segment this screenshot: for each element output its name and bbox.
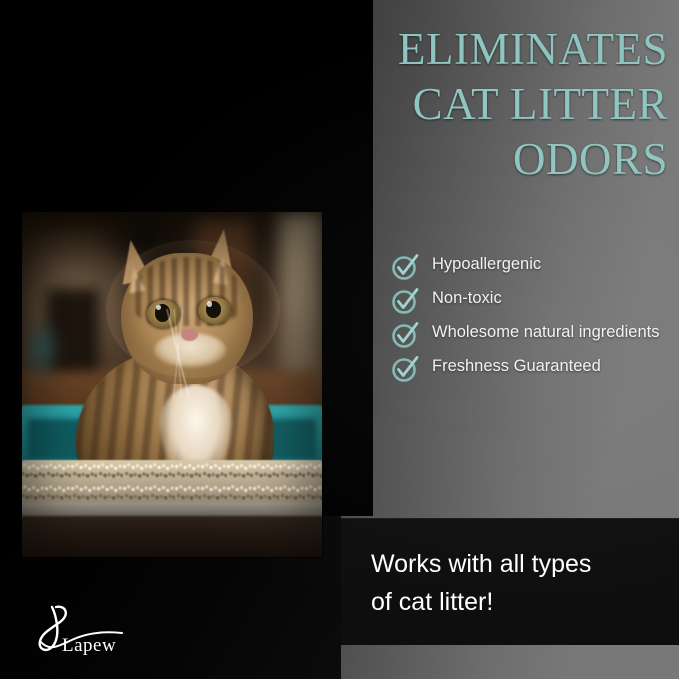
feature-item: Hypoallergenic [390,250,675,281]
feature-label: Non-toxic [432,284,502,310]
callout-box: Works with all types of cat litter! [341,518,679,645]
check-circle-icon [390,353,420,383]
feature-label: Wholesome natural ingredients [432,318,659,344]
callout-line-2: of cat litter! [371,583,671,621]
feature-list: Hypoallergenic Non-toxic Wholesome natur… [390,250,675,386]
check-circle-icon [390,319,420,349]
feature-item: Wholesome natural ingredients [390,318,675,349]
headline: ELIMINATES CAT LITTER ODORS [300,22,668,187]
product-poster: ELIMINATES CAT LITTER ODORS Hypoallergen… [0,0,679,679]
callout-text: Works with all types of cat litter! [371,545,671,621]
check-circle-icon [390,251,420,281]
feature-label: Freshness Guaranteed [432,352,601,378]
headline-line-1: ELIMINATES [300,22,668,77]
kitten-litter-box-photo [22,212,322,557]
feature-label: Hypoallergenic [432,250,541,276]
feature-item: Non-toxic [390,284,675,315]
callout-line-1: Works with all types [371,545,671,583]
brand-logo: Lapew [26,603,146,659]
photo-vignette [22,212,322,557]
headline-line-2: CAT LITTER [300,77,668,132]
feature-item: Freshness Guaranteed [390,352,675,383]
headline-line-3: ODORS [300,132,668,187]
check-circle-icon [390,285,420,315]
logo-wordmark: Lapew [62,635,116,657]
